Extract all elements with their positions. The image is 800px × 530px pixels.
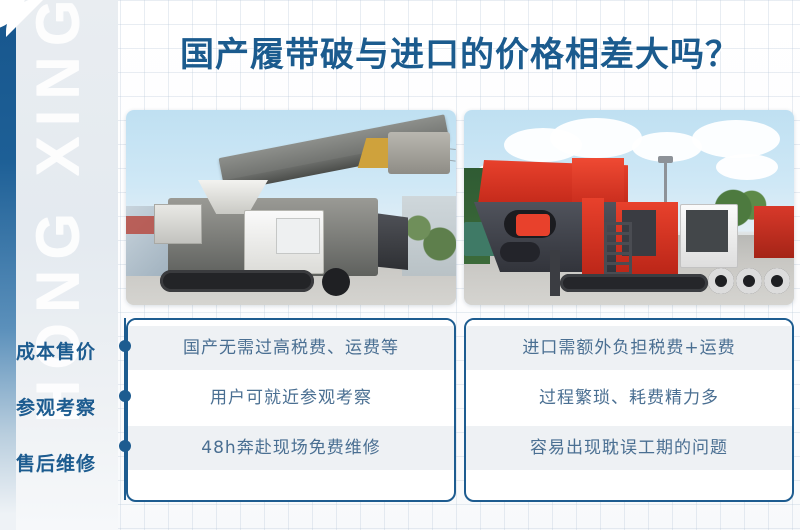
control-box [154,204,202,244]
criteria-label-service: 售后维修 [0,442,112,486]
cloud-decoration [692,120,780,158]
support-leg [550,250,560,296]
domestic-row-visit: 用户可就近参观考察 [128,376,454,420]
crawler-track [560,274,708,292]
connector-dot-service [119,440,131,452]
criteria-label-visit: 参观考察 [0,386,112,430]
corner-curve-decoration [6,0,46,42]
imported-row-service: 容易出现耽误工期的问题 [466,426,792,470]
domestic-row-service: 48h奔赴现场免费维修 [128,426,454,470]
light-pole [664,160,667,206]
internal-red-part [516,214,550,236]
trailer-wheel [736,268,762,294]
domestic-comparison-card: 国产无需过高税费、运费等 用户可就近参观考察 48h奔赴现场免费维修 [126,318,456,502]
infographic-canvas: HONG XING 成本售价 参观考察 售后维修 国产履带破与进口的价格相差大吗… [0,0,800,530]
control-panel [686,210,728,252]
imported-row-cost: 进口需额外负担税费+运费 [466,326,792,370]
cloud-decoration [550,118,642,158]
criteria-label-list: 成本售价 参观考察 售后维修 [0,330,112,498]
imported-comparison-card: 进口需额外负担税费+运费 过程繁琐、耗费精力多 容易出现耽误工期的问题 [464,318,794,502]
imported-machine-photo [464,110,794,305]
trailer-wheel [708,268,734,294]
control-panel [276,218,320,254]
crawler-track [160,270,314,292]
trailer-wheel [764,268,790,294]
wheel [322,268,350,296]
domestic-machine-photo [126,110,456,305]
imported-row-visit: 过程繁琐、耗费精力多 [466,376,792,420]
criteria-label-cost: 成本售价 [0,330,112,374]
domestic-row-cost: 国产无需过高税费、运费等 [128,326,454,370]
imported-panel [464,110,794,305]
support-column [582,198,604,282]
connector-dot-cost [119,340,131,352]
page-title: 国产履带破与进口的价格相差大吗？ [140,28,780,82]
light-pole-head [658,156,673,163]
tree-decoration [402,196,456,276]
feed-hopper [388,132,450,174]
domestic-panel [126,110,456,305]
background-red-equipment [754,206,794,258]
connector-dot-visit [119,390,131,402]
cloud-decoration [716,154,778,180]
inspection-opening [500,242,540,262]
